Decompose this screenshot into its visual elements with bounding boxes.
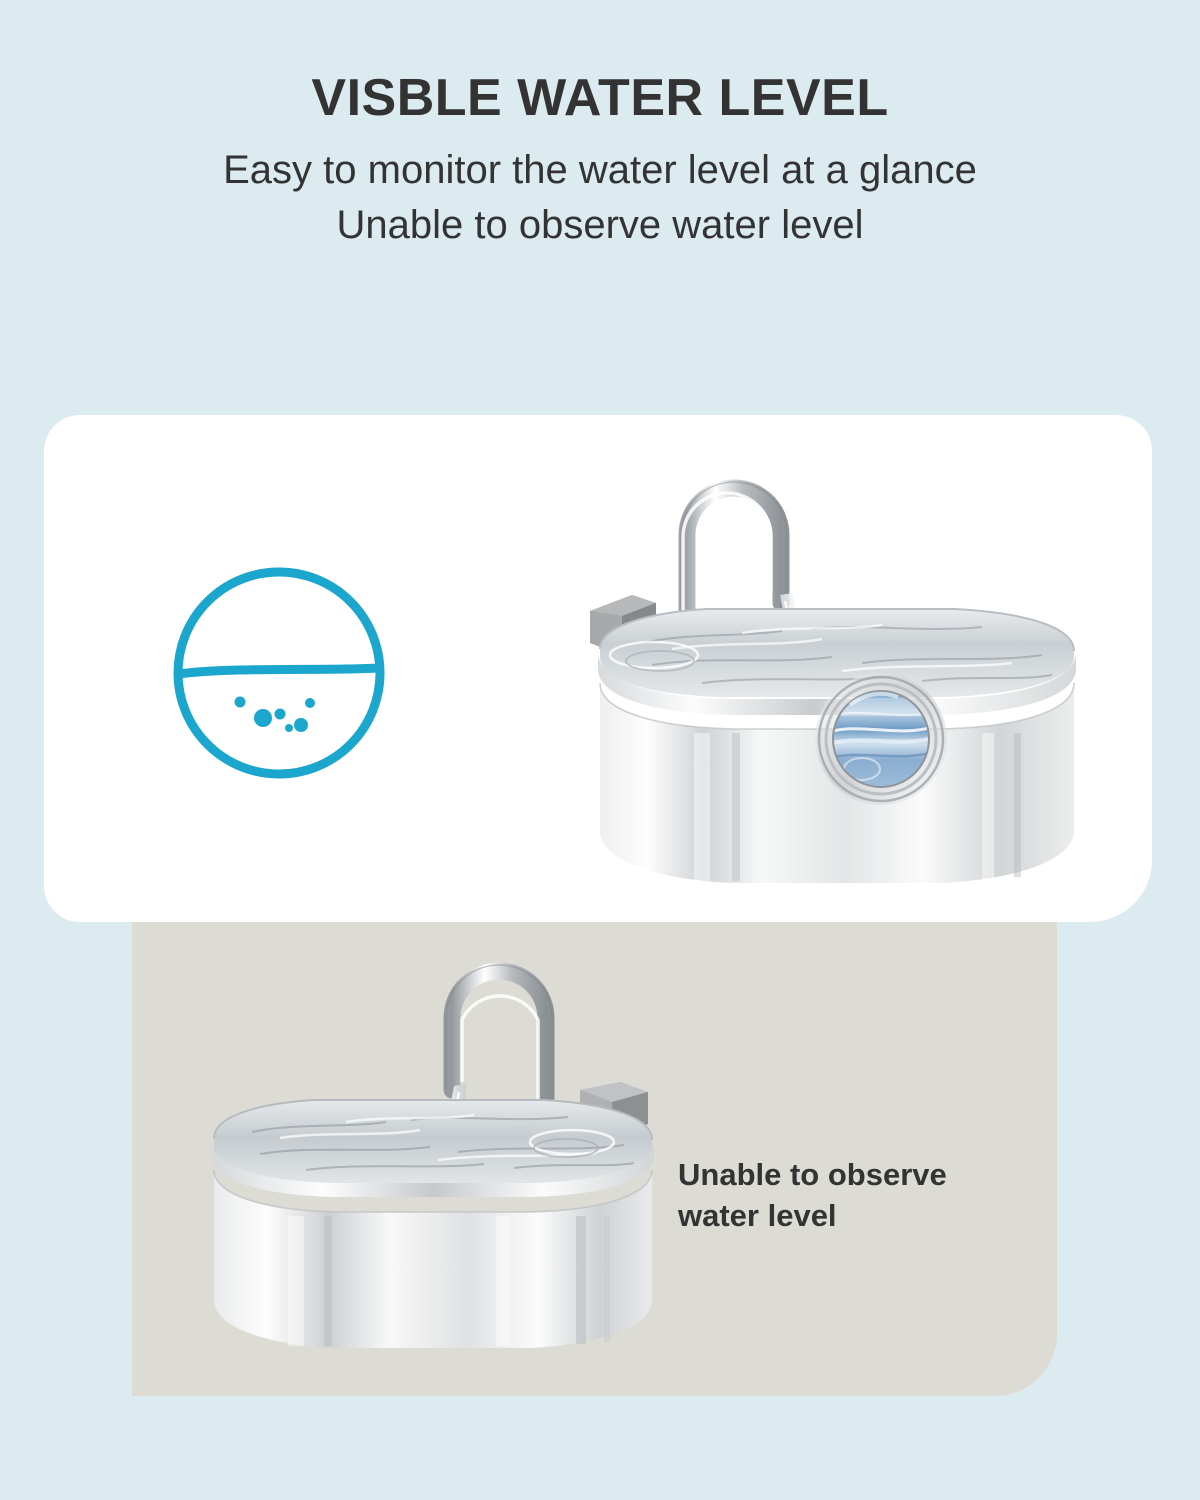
subtitle-line-1: Easy to monitor the water level at a gla… (0, 124, 1200, 198)
header: VISBLE WATER LEVEL Easy to monitor the w… (0, 0, 1200, 253)
subtitle-line-2: Unable to observe water level (0, 198, 1200, 253)
product-image-fountain-with-window (582, 443, 1092, 903)
water-level-circle-icon (168, 562, 390, 784)
comparison-caption: Unable to observe water level (678, 1155, 1038, 1237)
comparison-caption-line-2: water level (678, 1196, 1038, 1237)
product-image-fountain-no-window (196, 962, 666, 1362)
page-title: VISBLE WATER LEVEL (0, 0, 1200, 124)
comparison-caption-line-1: Unable to observe (678, 1155, 1038, 1196)
